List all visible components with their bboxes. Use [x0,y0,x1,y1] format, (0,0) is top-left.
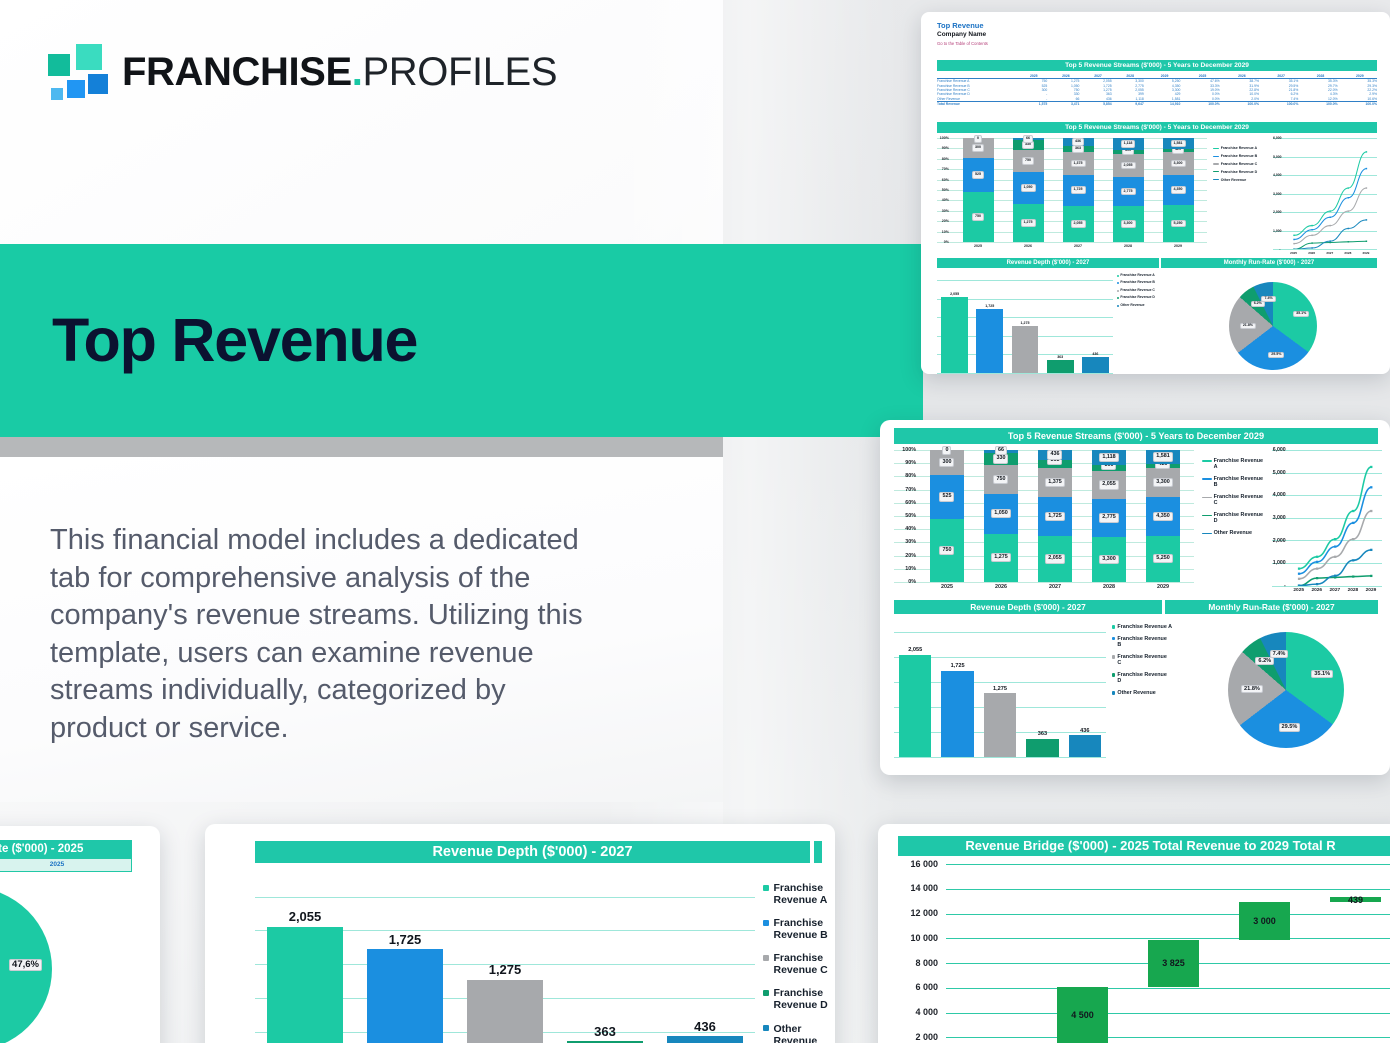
y-axis-tick: 40% [937,198,949,202]
legend-swatch [1112,655,1115,658]
bar-value-label: 2,055 [1099,480,1119,489]
chart-title-top5-small: Top 5 Revenue Streams ($'000) - 5 Years … [937,60,1377,71]
bar-value-label: 750 [939,546,954,555]
legend-swatch [1117,297,1119,299]
bar-value-label: 0 [942,446,951,455]
legend-label: Franchise Revenue B [1120,281,1154,285]
legend-item: Franchise Revenue D [1112,672,1172,684]
pie-slice-label: 7.4% [1261,296,1275,302]
x-axis-label: 2028 [1082,584,1136,590]
bar-value-label: 1,725 [367,932,443,947]
bar-segment: 363 [1063,146,1094,152]
chart-title-bridge: Revenue Bridge ($'000) - 2025 Total Reve… [898,836,1390,856]
chart-run-rate-pie-2025[interactable]: 47,6%33,3%19,0%0,0%0,0% [0,884,70,1043]
legend-label: Franchise Revenue B [1221,154,1258,158]
y-axis-tick: - [1272,583,1286,589]
bar-segment: 3,300 [1146,468,1179,497]
bar-value-label: 1,375 [1071,160,1086,168]
y-axis-tick: 30% [937,209,949,213]
y-axis-tick: 8 000 [898,958,938,968]
bar-value-label: 1,050 [991,509,1011,518]
chart-title-top5-small-2: Top 5 Revenue Streams ($'000) - 5 Years … [937,122,1377,133]
bar-value-label: 4,350 [1171,186,1186,194]
legend-swatch [1213,179,1219,180]
y-axis-tick: 6,000 [1272,447,1286,453]
bar[interactable] [267,927,343,1043]
bar[interactable] [1082,357,1109,373]
legend-item: Other Revenue [1202,530,1266,536]
run-rate-pie-card[interactable]: Monthly Run-Rate ($'000) - 2025 2025 47,… [0,826,160,1043]
legend-item: Franchise Revenue C [1213,162,1273,166]
y-axis-tick: 4,000 [1273,173,1281,177]
pie-slice-label: 6.2% [1255,657,1274,665]
bar-value-label: 3,300 [1099,555,1119,564]
stacked-bar[interactable]: 5,2504,3503,3004291,581 [1146,450,1179,582]
y-axis-tick: 12 000 [898,908,938,918]
bar[interactable] [941,671,973,757]
bar-value-label: 1,275 [984,686,1016,692]
legend-label: Other Revenue [1214,530,1252,536]
y-axis-tick: 16 000 [898,859,938,869]
pie-slice-label: 7.4% [1270,650,1289,658]
legend-swatch [763,990,769,996]
bar[interactable] [1012,326,1039,373]
legend-label: Other Revenue [773,1023,835,1043]
bar-value-label: 5,250 [1153,554,1173,563]
bar-segment: 2,055 [1113,154,1144,176]
title-tail-block [814,841,822,863]
legend-swatch [763,955,769,961]
legend-label: Franchise Revenue C [1221,162,1258,166]
legend-swatch [763,920,769,926]
x-axis-label: 2029 [1357,251,1375,255]
x-axis-label: 2026 [1003,244,1053,248]
x-axis-label: 2026 [974,584,1028,590]
y-axis-tick: 10% [937,230,949,234]
legend-label: Franchise Revenue C [1120,289,1154,293]
bar-segment: 1,050 [984,494,1017,534]
bar-segment: 399 [1092,465,1125,470]
y-axis-tick: 50% [894,513,916,519]
x-axis-label: 2027 [1326,588,1344,593]
bar[interactable] [1069,735,1101,757]
bar-value-label: 4,350 [1153,512,1173,521]
gridline [255,897,755,898]
legend-item: Franchise Revenue C [1117,289,1165,293]
y-axis-tick: 6 000 [898,982,938,992]
bar[interactable] [899,655,931,757]
bar-value-label: 439 [1330,895,1381,905]
x-axis-label: 2027 [1321,251,1339,255]
chart-mix-pie-medium[interactable]: 35.1%29.5%21.8%6.2%7.4% [1176,618,1376,768]
y-axis-tick: 70% [894,487,916,493]
logo-square-teal-dark [48,54,70,76]
gridline [937,242,1207,243]
bar-segment: 429 [1163,149,1194,152]
gridline [894,757,1106,758]
y-axis-tick: 5,000 [1272,470,1286,476]
brand-logo: FRANCHISE.PROFILES [48,44,538,106]
bar-value-label: 3,300 [1171,160,1186,168]
bar-segment: 1,725 [1038,497,1071,536]
bar-value-label: 2,055 [899,647,931,653]
y-axis-tick: 2,000 [1272,538,1286,544]
legend-item: Franchise Revenue A [1112,624,1172,630]
x-axis-label: 2029 [1136,584,1190,590]
legend-swatch [1213,163,1219,164]
bar-segment: 363 [1038,460,1071,468]
legend-swatch [1112,625,1115,628]
table-total-row: Total Revenue 1,575 3,471 5,854 9,647 14… [937,102,1377,107]
bar-segment: 399 [1113,150,1144,154]
bar-value-label: 436 [1069,728,1101,734]
legend-swatch [1112,691,1115,694]
stacked-bar[interactable]: 5,2504,3503,3004291,581 [1163,138,1194,242]
bar-value-label: 750 [993,475,1008,484]
bar-segment: 1,581 [1146,450,1179,464]
legend-swatch [1213,156,1219,157]
y-axis-tick: 2 000 [898,1032,938,1042]
bar-segment: 2,775 [1092,499,1125,537]
legend-item: Franchise Revenue B [1213,154,1273,158]
bar-value-label: 2,055 [1045,554,1065,563]
chart-title-runrate-medium: Monthly Run-Rate ($'000) - 2027 [1165,600,1378,614]
bar-value-label: 3,300 [1121,220,1136,228]
y-axis-tick: 0% [937,240,949,244]
bar-value-label: 363 [1072,145,1084,153]
bar-value-label: 1,275 [1021,219,1036,227]
bar-segment: 2,055 [1038,536,1071,582]
bar-value-label: 1,275 [991,553,1011,562]
spreadsheet-thumbnail-card[interactable]: Top Revenue Company Name Go to the Table… [921,12,1390,374]
chart-title-top5-medium: Top 5 Revenue Streams ($'000) - 5 Years … [894,428,1378,444]
legend-swatch [763,1025,769,1031]
gridline [894,632,1106,633]
x-axis-label: 2026 [1308,588,1326,593]
legend-item: Other Revenue [1117,304,1165,308]
bar-segment: 1,275 [984,534,1017,582]
y-axis-tick: 90% [894,460,916,466]
toc-link[interactable]: Go to the Table of Contents [937,41,988,46]
x-axis-label: 2028 [1344,588,1362,593]
legend-item: Franchise Revenue D [1202,512,1266,524]
x-axis-label: 2027 [1053,244,1103,248]
bar-value-label: 1,118 [1099,453,1118,462]
gridline [946,1037,1390,1038]
bar-segment: 750 [930,519,963,582]
x-axis-label: 2025 [1290,588,1308,593]
y-axis-tick: 10% [894,566,916,572]
legend-item: Franchise Revenue D [1117,296,1165,300]
bar-segment: 2,055 [1092,471,1125,499]
y-axis-tick: 1,000 [1273,229,1281,233]
y-axis-tick: 90% [937,146,949,150]
chart-title-run-rate-2025: Monthly Run-Rate ($'000) - 2025 [0,840,132,858]
legend-item: Franchise Revenue C [1202,494,1266,506]
gridline [894,582,1194,583]
stacked-bar[interactable]: 3,3002,7752,0553991,118 [1113,138,1144,242]
bar-value-label: 2,055 [267,909,343,924]
legend-label: Franchise Revenue A [773,882,835,906]
y-axis-tick: 10 000 [898,933,938,943]
stacked-bar[interactable]: 1,2751,05075033066 [984,450,1017,582]
dashboard-card-medium[interactable]: Top 5 Revenue Streams ($'000) - 5 Years … [880,420,1390,775]
bar-value-label: 1,725 [1045,512,1065,521]
chart-top5-stacked-small[interactable]: 100%90%80%70%60%50%40%30%20%10%0%7505253… [937,136,1207,256]
stacked-bar[interactable]: 2,0551,7251,375363436 [1038,450,1071,582]
chart-revenue-bridge[interactable]: 16 00014 00012 00010 0008 0006 0004 0002… [898,860,1390,1043]
chart-legend-depth-small: Franchise Revenue AFranchise Revenue BFr… [1117,274,1165,311]
gridline [946,889,1390,890]
y-axis-tick: 40% [894,526,916,532]
logo-word-bold: FRANCHISE [122,50,352,94]
bar-value-label: 525 [939,492,954,501]
bar-segment: 429 [1146,464,1179,468]
bar-segment: 750 [1013,150,1044,172]
chart-mix-pie-small[interactable]: 35.1%29.5%21.8%6.2%7.4% [1169,270,1377,374]
company-name: Company Name [937,31,986,38]
bar-segment: 1,275 [1013,204,1044,242]
bar-value-label: 2,055 [1121,162,1136,170]
chart-legend-medium: Franchise Revenue AFranchise Revenue BFr… [1202,458,1266,542]
chart-title-depth-large: Revenue Depth ($'000) - 2027 [255,841,810,863]
legend-swatch [1112,637,1115,640]
bar[interactable] [976,309,1003,373]
legend-label: Franchise Revenue D [1214,512,1266,524]
legend-item: Franchise Revenue C [763,952,835,976]
bar-value-label: 1,118 [1121,140,1136,148]
bar-value-label: 1,275 [1012,321,1039,325]
bar-segment: 2,055 [1063,206,1094,243]
legend-label: Franchise Revenue D [773,987,835,1011]
bar-segment: 750 [963,192,994,242]
logo-wordmark: FRANCHISE.PROFILES [122,48,557,96]
pie-slice-label: 6.2% [1251,301,1265,307]
x-axis-label: 2028 [1103,244,1153,248]
y-axis-tick: 4,000 [1272,492,1286,498]
chart-legend-depth-large: Franchise Revenue AFranchise Revenue BFr… [763,882,835,1043]
y-axis-tick: 60% [937,178,949,182]
y-axis-tick: 5,000 [1273,155,1281,159]
stacked-bar[interactable]: 7505253000 [963,138,994,242]
legend-item: Other Revenue [1213,178,1273,182]
bar-value-label: 3,300 [1153,478,1173,487]
logo-square-blue-right [88,74,108,94]
bar-segment: 750 [984,465,1017,494]
gridline [1273,249,1377,250]
gridline [946,914,1390,915]
chart-legend-depth-medium: Franchise Revenue AFranchise Revenue BFr… [1112,624,1172,702]
legend-swatch [1117,290,1119,292]
legend-swatch [1112,673,1115,676]
stacked-bar[interactable]: 7505253000 [930,450,963,582]
chart-title-depth-small: Revenue Depth ($'000) - 2027 [937,258,1159,268]
bar-segment: 3,300 [1113,206,1144,242]
bar-value-label: 2,055 [941,292,968,296]
legend-label: Franchise Revenue C [773,952,835,976]
gridline [1272,586,1382,587]
legend-label: Franchise Revenue D [1117,672,1172,684]
bar-segment: 2,775 [1113,177,1144,207]
legend-label: Franchise Revenue B [773,917,835,941]
bar-value-label: 1,050 [1021,184,1036,192]
y-axis-tick: 100% [937,136,949,140]
y-axis-tick: 50% [937,188,949,192]
bar-segment: 66 [984,450,1017,453]
legend-swatch [1202,515,1212,517]
legend-label: Franchise Revenue A [1221,146,1257,150]
bar[interactable] [667,1036,743,1043]
bar[interactable] [941,297,968,374]
bar-segment: 66 [1013,138,1044,140]
bar-segment: 1,375 [1063,152,1094,175]
legend-item: Franchise Revenue B [1112,636,1172,648]
x-axis-label: 2025 [953,244,1003,248]
y-axis-tick: 3,000 [1273,192,1281,196]
legend-label: Franchise Revenue C [1214,494,1266,506]
legend-label: Other Revenue [1117,690,1155,696]
line-series-group [1285,138,1375,249]
stacked-bar[interactable]: 2,0551,7251,375363436 [1063,138,1094,242]
gridline [937,280,1113,281]
y-axis-tick: 100% [894,447,916,453]
chart-top5-stacked-medium[interactable]: 100%90%80%70%60%50%40%30%20%10%0%7505253… [894,448,1194,596]
bar-value-label: 363 [1047,355,1074,359]
bar[interactable] [367,949,443,1043]
logo-word-light: PROFILES [362,50,557,94]
revenue-bridge-card[interactable]: Revenue Bridge ($'000) - 2025 Total Reve… [878,824,1390,1043]
bar-segment: 3,300 [1092,537,1125,582]
bar-value-label: 300 [972,144,984,152]
pie-slice-label: 21.8% [1240,323,1256,329]
bar-value-label: 363 [1026,731,1058,737]
page-title: Top Revenue [52,305,417,375]
bar-value-label: 4 500 [1057,1010,1108,1020]
bar[interactable] [984,693,1016,757]
bar-segment: 1,118 [1092,450,1125,465]
y-axis-tick: 2,000 [1273,210,1281,214]
legend-swatch [1202,497,1212,499]
line-series-group [1290,450,1380,586]
chart-revenue-depth-small[interactable]: 2,0551,7251,275363436 [937,272,1113,374]
bar-segment: 436 [1038,450,1071,460]
bar-value-label: 750 [972,213,984,221]
x-axis-label: 2026 [1303,251,1321,255]
legend-label: Franchise Revenue A [1120,274,1154,278]
year-tag-label: 2025 [0,858,132,872]
revenue-depth-card-large[interactable]: Revenue Depth ($'000) - 2027 2,0551,7251… [205,824,835,1043]
bar-value-label: 66 [1023,135,1033,143]
legend-label: Franchise Revenue A [1214,458,1266,470]
y-axis-tick: 20% [937,219,949,223]
stacked-bar[interactable]: 1,2751,05075033066 [1013,138,1044,242]
bar-segment: 3,300 [1163,152,1194,175]
bar-segment: 5,250 [1146,536,1179,582]
y-axis-tick: 1,000 [1272,560,1286,566]
stacked-bar[interactable]: 3,3002,7752,0553991,118 [1092,450,1125,582]
bar[interactable] [1047,360,1074,374]
x-axis-label: 2029 [1362,588,1380,593]
bar-value-label: 2,775 [1121,188,1136,196]
legend-swatch [1213,148,1219,149]
legend-label: Other Revenue [1221,178,1247,182]
x-axis-label: 2029 [1153,244,1203,248]
pie-slice-label: 21.8% [1241,685,1263,693]
y-axis-tick: 80% [894,473,916,479]
y-axis-tick: 0% [894,579,916,585]
legend-item: Franchise Revenue D [763,987,835,1011]
legend-label: Franchise Revenue B [1117,636,1172,648]
bar-value-label: 436 [667,1019,743,1034]
legend-swatch [1117,282,1119,284]
y-axis-tick: 70% [937,167,949,171]
chart-run-rate-small[interactable]: 6,0005,0004,0003,0002,0001,000-202520262… [1273,136,1377,256]
bar-segment: 525 [930,475,963,519]
logo-square-blue-small [51,88,63,100]
gridline [946,864,1390,865]
legend-label: Franchise Revenue B [1214,476,1266,488]
pie-slice-label: 47,6% [9,959,42,971]
legend-label: Other Revenue [1120,304,1144,308]
legend-swatch [1213,171,1219,172]
pie-slice-label: 35.1% [1293,311,1309,317]
legend-item: Franchise Revenue D [1213,170,1273,174]
bar-value-label: 363 [567,1024,643,1039]
legend-item: Franchise Revenue B [1202,476,1266,488]
legend-item: Other Revenue [763,1023,835,1043]
bar-segment: 1,375 [1038,468,1071,497]
bar[interactable] [467,980,543,1043]
y-axis-tick: 30% [894,539,916,545]
chart-revenue-depth-medium[interactable]: 2,0551,7251,275363436 [894,620,1106,766]
bar[interactable] [1026,739,1058,757]
legend-item: Franchise Revenue A [1202,458,1266,470]
y-axis-tick: - [1273,247,1281,251]
legend-item: Franchise Revenue C [1112,654,1172,666]
legend-swatch [763,885,769,891]
bar-value-label: 2,775 [1099,513,1119,522]
bar-value-label: 1,581 [1153,452,1173,461]
bar-segment: 1,118 [1113,138,1144,150]
bar-value-label: 5,250 [1171,220,1186,228]
revenue-table-small: 2025 2026 2027 2028 2029 2025 2026 2027 … [937,74,1377,107]
y-axis-tick: 6,000 [1273,136,1281,140]
legend-swatch [1117,275,1119,277]
bar-value-label: 3 825 [1148,958,1199,968]
y-axis-tick: 4 000 [898,1007,938,1017]
legend-swatch [1202,533,1212,535]
description-text: This financial model includes a dedicate… [50,522,610,747]
x-axis-label: 2027 [1028,584,1082,590]
bar-segment: 4,350 [1146,497,1179,536]
x-axis-label: 2025 [1285,251,1303,255]
bar-value-label: 436 [1082,352,1109,356]
legend-item: Franchise Revenue A [763,882,835,906]
bar-value-label: 0 [974,135,982,143]
chart-title-runrate-small: Monthly Run-Rate ($'000) - 2027 [1161,258,1377,268]
bar-value-label: 1,725 [941,663,973,669]
bar-value-label: 66 [995,446,1007,455]
x-axis-label: 2025 [920,584,974,590]
chart-run-rate-medium[interactable]: 6,0005,0004,0003,0002,0001,000-202520262… [1272,448,1382,596]
gridline [937,373,1113,374]
legend-item: Franchise Revenue A [1117,274,1165,278]
legend-swatch [1202,460,1212,462]
chart-revenue-depth-large[interactable]: 2,0551,7251,275363436 [255,868,755,1043]
bar-segment: 5,250 [1163,205,1194,242]
gridline [946,1013,1390,1014]
pie-slice-label: 29.5% [1268,352,1284,358]
